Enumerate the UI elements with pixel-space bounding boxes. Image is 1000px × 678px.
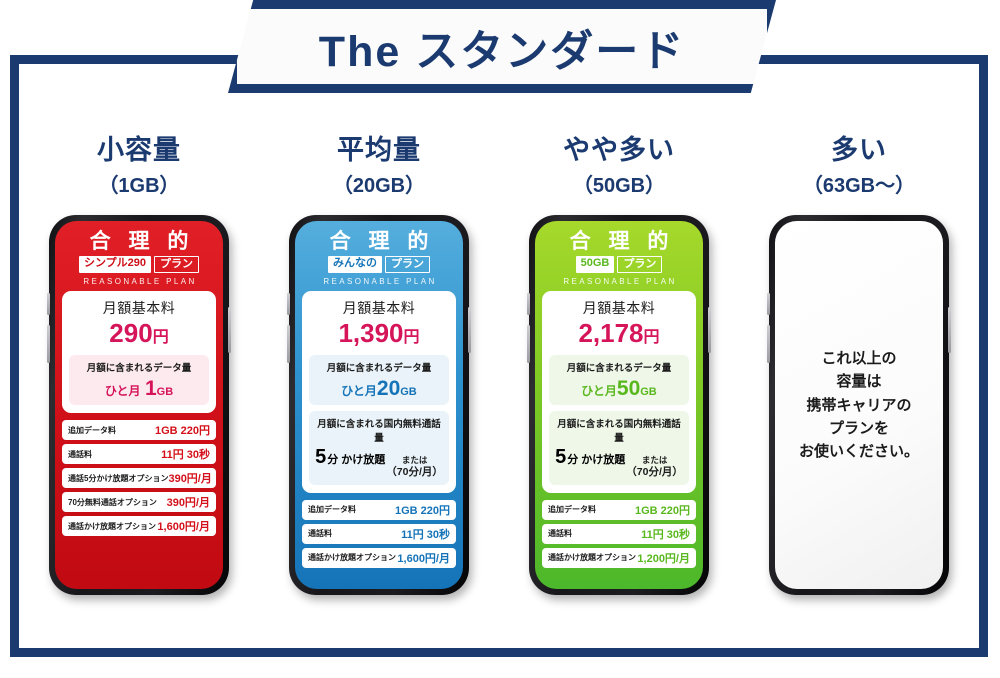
call-allowance-value: 5 分 かけ放題 または （70分/月） — [313, 446, 445, 479]
brand-name: 合 理 的 — [301, 230, 457, 253]
call-allowance-tile: 月額に含まれる国内無料通話量 5 分 かけ放題 または （70分/月） — [549, 411, 689, 485]
data-allowance-label: 月額に含まれるデータ量 — [553, 360, 685, 374]
phone-side-button — [228, 307, 231, 353]
phone-side-button — [468, 307, 471, 353]
brand-badge-right: プラン — [617, 256, 662, 273]
price-card: 月額基本料 2,178円 月額に含まれるデータ量 ひと月50GB 月額に含まれる… — [542, 291, 696, 492]
row-label: 通話かけ放題オプション — [308, 552, 396, 563]
brand-badge-left: 50GB — [576, 256, 615, 273]
row-label: 通話料 — [308, 528, 332, 539]
phone-side-button — [708, 307, 711, 353]
data-allowance-amount: 1 — [145, 377, 157, 400]
row-label: 追加データ料 — [308, 504, 356, 515]
brand-name: 合 理 的 — [541, 230, 697, 253]
data-allowance-value: ひと月50GB — [553, 378, 685, 399]
column-title: 平均量 — [337, 136, 421, 164]
table-row: 通話料11円 30秒 — [542, 524, 696, 544]
table-row: 通話かけ放題オプション1,200円/月 — [542, 548, 696, 568]
option-rows: 追加データ料1GB 220円 通話料11円 30秒 通話5分かけ放題オプション3… — [62, 420, 216, 536]
row-value: 1GB 220円 — [155, 422, 210, 438]
brand-tagline: REASONABLE PLAN — [301, 277, 457, 286]
price-currency: 円 — [404, 329, 420, 346]
brand-badge-left: シンプル290 — [79, 256, 151, 273]
page-title: The スタンダード — [319, 17, 685, 79]
phone-side-button — [948, 307, 951, 353]
call-unlimited-text: 分 かけ放題 — [327, 451, 385, 467]
data-allowance-tile: 月額に含まれるデータ量 ひと月50GB — [549, 355, 689, 405]
price-card: 月額基本料 1,390円 月額に含まれるデータ量 ひと月20GB 月額に含まれる… — [302, 291, 456, 492]
call-note-stack: または （70分/月） — [626, 456, 683, 479]
message-line: プランを — [829, 420, 889, 437]
data-allowance-unit: GB — [640, 386, 657, 398]
infographic-page: The スタンダード 小容量 （1GB） 合 理 的 シンプル290 プラン R… — [0, 0, 1000, 678]
brand-badge-left: みんなの — [328, 256, 382, 273]
table-row: 通話5分かけ放題オプション390円/月 — [62, 468, 216, 488]
message-line: 携帯キャリアの — [806, 397, 911, 414]
brand-badges: 50GB プラン — [541, 256, 697, 273]
table-row: 通話かけ放題オプション1,600円/月 — [302, 548, 456, 568]
message-line: これ以上の — [821, 350, 896, 367]
row-value: 390円/月 — [167, 494, 210, 510]
option-rows: 追加データ料1GB 220円 通話料11円 30秒 通話かけ放題オプション1,6… — [302, 500, 456, 568]
row-value: 390円/月 — [168, 470, 211, 486]
phone-screen: 合 理 的 みんなの プラン REASONABLE PLAN 月額基本料 1,3… — [295, 221, 463, 589]
data-allowance-unit: GB — [400, 386, 417, 398]
data-allowance-label: 月額に含まれるデータ量 — [313, 360, 445, 374]
row-value: 1GB 220円 — [635, 502, 690, 518]
plan-column-high: やや多い （50GB） 合 理 的 50GB プラン REASONABLE PL… — [499, 64, 739, 648]
data-allowance-prefix: ひと月 — [341, 384, 377, 398]
row-value: 11円 30秒 — [161, 446, 210, 462]
price-value: 2,178円 — [549, 319, 689, 349]
column-title: 小容量 — [97, 136, 181, 164]
row-value: 1,600円/月 — [157, 518, 210, 534]
table-row: 追加データ料1GB 220円 — [62, 420, 216, 440]
row-value: 1,200円/月 — [637, 550, 690, 566]
price-label: 月額基本料 — [549, 298, 689, 318]
brand-badges: シンプル290 プラン — [61, 256, 217, 273]
call-allowance-value: 5 分 かけ放題 または （70分/月） — [553, 446, 685, 479]
price-label: 月額基本料 — [69, 298, 209, 318]
row-label: 通話かけ放題オプション — [68, 521, 156, 532]
phone-device: 合 理 的 シンプル290 プラン REASONABLE PLAN 月額基本料 … — [49, 215, 229, 595]
column-subtitle: （1GB） — [98, 169, 179, 198]
carrier-message: これ以上の 容量は 携帯キャリアの プランを お使いください。 — [775, 221, 943, 589]
row-label: 追加データ料 — [68, 425, 116, 436]
call-allowance-label: 月額に含まれる国内無料通話量 — [313, 416, 445, 444]
call-minutes: 5 — [555, 446, 566, 469]
data-allowance-prefix: ひと月 — [105, 384, 141, 398]
option-rows: 追加データ料1GB 220円 通話料11円 30秒 通話かけ放題オプション1,2… — [542, 500, 696, 568]
price-amount: 1,390 — [338, 318, 403, 348]
row-label: 通話料 — [68, 449, 92, 460]
title-banner: The スタンダード — [228, 0, 776, 93]
row-label: 追加データ料 — [548, 504, 596, 515]
brand-tagline: REASONABLE PLAN — [541, 277, 697, 286]
call-note: （70分/月） — [626, 464, 683, 479]
table-row: 通話かけ放題オプション1,600円/月 — [62, 516, 216, 536]
price-card: 月額基本料 290円 月額に含まれるデータ量 ひと月 1GB — [62, 291, 216, 413]
row-value: 1GB 220円 — [395, 502, 450, 518]
plan-column-carrier: 多い （63GB〜） これ以上の 容量は 携帯キャリアの プランを お使いくださ… — [739, 64, 979, 648]
price-value: 290円 — [69, 319, 209, 349]
call-note: （70分/月） — [386, 464, 443, 479]
phone-device: 合 理 的 みんなの プラン REASONABLE PLAN 月額基本料 1,3… — [289, 215, 469, 595]
call-minutes: 5 — [315, 446, 326, 469]
data-allowance-prefix: ひと月 — [581, 384, 617, 398]
phone-screen: これ以上の 容量は 携帯キャリアの プランを お使いください。 — [775, 221, 943, 589]
column-subtitle: （50GB） — [573, 169, 665, 198]
brand-name: 合 理 的 — [61, 230, 217, 253]
plan-brand-block: 合 理 的 シンプル290 プラン REASONABLE PLAN — [55, 221, 223, 291]
brand-badges: みんなの プラン — [301, 256, 457, 273]
phone-device: これ以上の 容量は 携帯キャリアの プランを お使いください。 — [769, 215, 949, 595]
plan-columns: 小容量 （1GB） 合 理 的 シンプル290 プラン REASONABLE P… — [19, 64, 979, 648]
data-allowance-tile: 月額に含まれるデータ量 ひと月 1GB — [69, 355, 209, 405]
call-allowance-label: 月額に含まれる国内無料通話量 — [553, 416, 685, 444]
plan-column-small: 小容量 （1GB） 合 理 的 シンプル290 プラン REASONABLE P… — [19, 64, 259, 648]
price-currency: 円 — [644, 329, 660, 346]
table-row: 70分無料通話オプション390円/月 — [62, 492, 216, 512]
call-allowance-tile: 月額に含まれる国内無料通話量 5 分 かけ放題 または （70分/月） — [309, 411, 449, 485]
table-row: 追加データ料1GB 220円 — [302, 500, 456, 520]
row-label: 通話かけ放題オプション — [548, 552, 636, 563]
price-value: 1,390円 — [309, 319, 449, 349]
message-line: お使いください。 — [799, 443, 919, 460]
call-note-stack: または （70分/月） — [386, 456, 443, 479]
column-title: やや多い — [563, 136, 675, 164]
call-unlimited-text: 分 かけ放題 — [567, 451, 625, 467]
plan-brand-block: 合 理 的 みんなの プラン REASONABLE PLAN — [295, 221, 463, 291]
data-allowance-amount: 20 — [377, 377, 400, 400]
data-allowance-unit: GB — [157, 386, 174, 398]
message-line: 容量は — [836, 373, 881, 390]
plan-brand-block: 合 理 的 50GB プラン REASONABLE PLAN — [535, 221, 703, 291]
banner-inner: The スタンダード — [228, 0, 776, 93]
price-amount: 290 — [109, 318, 152, 348]
data-allowance-amount: 50 — [617, 377, 640, 400]
brand-tagline: REASONABLE PLAN — [61, 277, 217, 286]
brand-badge-right: プラン — [385, 256, 430, 273]
table-row: 通話料11円 30秒 — [62, 444, 216, 464]
column-title: 多い — [831, 136, 887, 164]
phone-screen: 合 理 的 50GB プラン REASONABLE PLAN 月額基本料 2,1… — [535, 221, 703, 589]
price-label: 月額基本料 — [309, 298, 449, 318]
plan-column-average: 平均量 （20GB） 合 理 的 みんなの プラン REASONABLE PLA… — [259, 64, 499, 648]
phone-screen: 合 理 的 シンプル290 プラン REASONABLE PLAN 月額基本料 … — [55, 221, 223, 589]
table-row: 追加データ料1GB 220円 — [542, 500, 696, 520]
column-subtitle: （63GB〜） — [803, 169, 915, 198]
row-value: 11円 30秒 — [641, 526, 690, 542]
price-amount: 2,178 — [578, 318, 643, 348]
row-value: 1,600円/月 — [397, 550, 450, 566]
table-row: 通話料11円 30秒 — [302, 524, 456, 544]
data-allowance-value: ひと月 1GB — [73, 378, 205, 399]
row-label: 通話5分かけ放題オプション — [68, 473, 168, 484]
data-allowance-tile: 月額に含まれるデータ量 ひと月20GB — [309, 355, 449, 405]
phone-device: 合 理 的 50GB プラン REASONABLE PLAN 月額基本料 2,1… — [529, 215, 709, 595]
row-label: 70分無料通話オプション — [68, 497, 157, 508]
column-subtitle: （20GB） — [333, 169, 425, 198]
row-value: 11円 30秒 — [401, 526, 450, 542]
brand-badge-right: プラン — [154, 256, 199, 273]
price-currency: 円 — [153, 329, 169, 346]
row-label: 通話料 — [548, 528, 572, 539]
data-allowance-value: ひと月20GB — [313, 378, 445, 399]
data-allowance-label: 月額に含まれるデータ量 — [73, 360, 205, 374]
